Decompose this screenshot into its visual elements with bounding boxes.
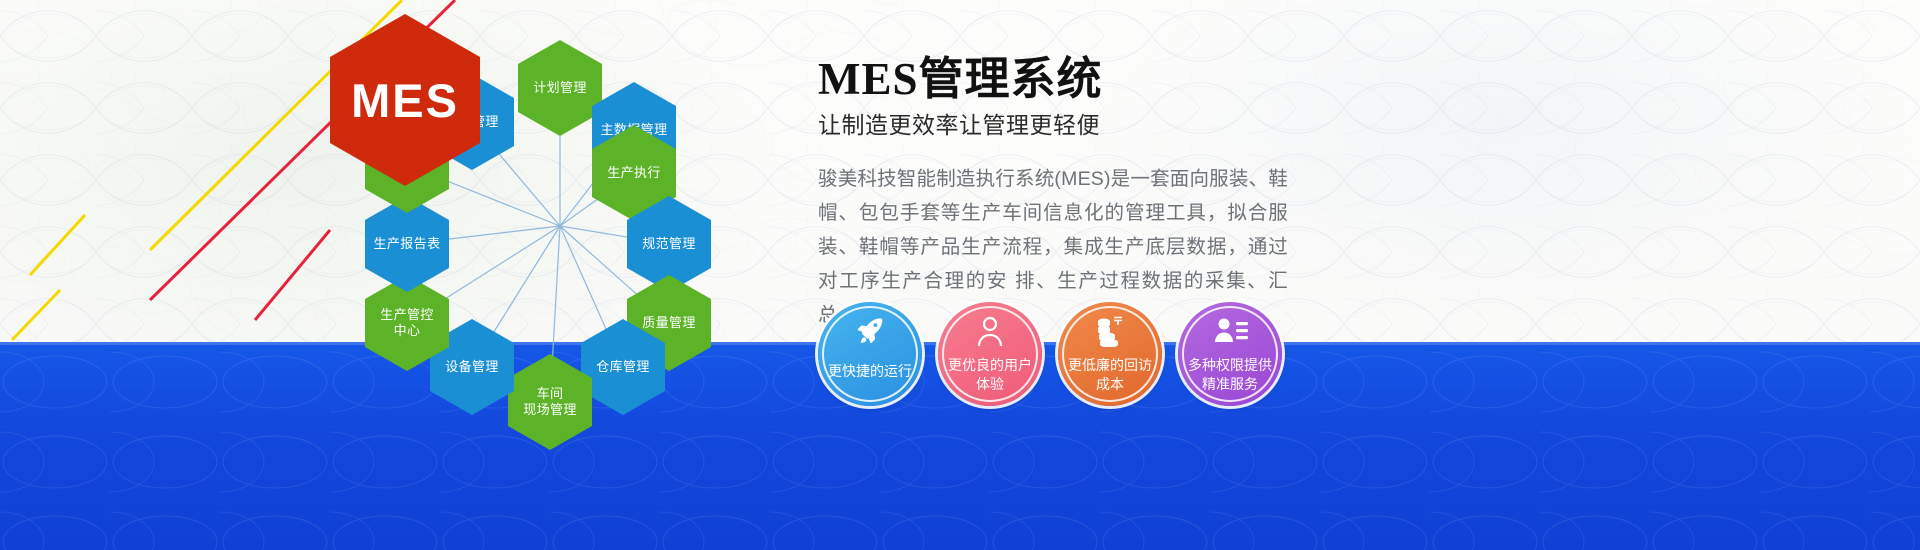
- coins-icon: [1093, 315, 1127, 347]
- mes-banner: 计划管理主数据管理生产执行规范管理质量管理仓库管理车间现场管理设备管理生产管控中…: [0, 0, 1920, 550]
- badge-label: 多种权限提供精准服务: [1178, 356, 1282, 394]
- feature-badge[interactable]: 更快捷的运行: [818, 302, 922, 406]
- feature-badges: 更快捷的运行更优良的用户体验更低廉的回访成本多种权限提供精准服务: [818, 302, 1282, 406]
- hex-node-label: 设备管理: [441, 359, 503, 375]
- page-title: MES管理系统: [818, 52, 1828, 106]
- badge-label: 更优良的用户体验: [938, 356, 1042, 394]
- hex-node-label: 生产管控中心: [376, 307, 438, 339]
- feature-badge[interactable]: 多种权限提供精准服务: [1178, 302, 1282, 406]
- feature-badge[interactable]: 更低廉的回访成本: [1058, 302, 1162, 406]
- hex-node-label: 质量管理: [638, 315, 700, 331]
- hex-node-label: 仓库管理: [592, 359, 654, 375]
- feature-badge[interactable]: 更优良的用户体验: [938, 302, 1042, 406]
- mes-hex-diagram: 计划管理主数据管理生产执行规范管理质量管理仓库管理车间现场管理设备管理生产管控中…: [330, 14, 790, 434]
- hex-node-label: 生产报告表: [369, 236, 444, 252]
- content-column: MES管理系统 让制造更效率让管理更轻便 骏美科技智能制造执行系统(MES)是一…: [818, 52, 1828, 332]
- hex-node-label: 生产执行: [603, 165, 665, 181]
- hex-node-label: 计划管理: [529, 80, 591, 96]
- hex-center-label: MES: [351, 73, 459, 128]
- hex-node-label: 规范管理: [638, 236, 700, 252]
- user-icon: [973, 315, 1007, 347]
- rocket-icon: [853, 315, 887, 347]
- badge-label: 更低廉的回访成本: [1058, 356, 1162, 394]
- badge-label: 更快捷的运行: [821, 362, 919, 394]
- hex-node-label: 车间现场管理: [519, 386, 581, 418]
- permissions-icon: [1213, 315, 1247, 347]
- page-subtitle: 让制造更效率让管理更轻便: [818, 110, 1828, 140]
